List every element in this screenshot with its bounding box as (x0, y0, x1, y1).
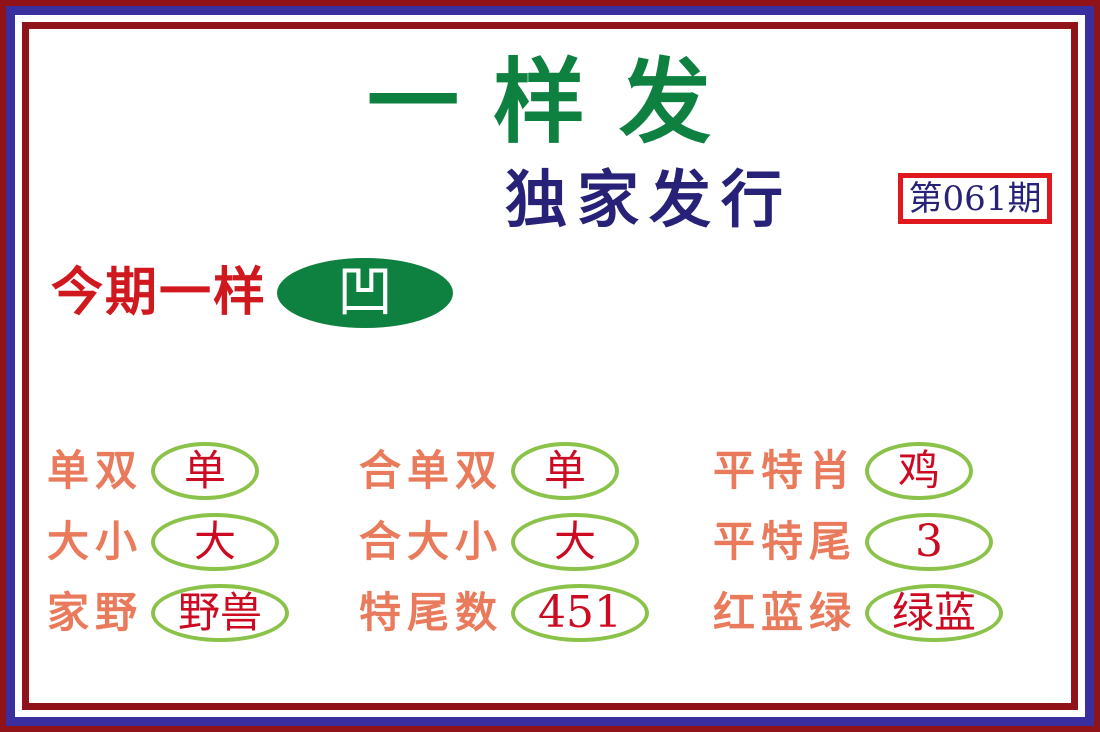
cell-oval-badge: 鸡 (865, 442, 973, 500)
cell-value: 单 (184, 450, 226, 492)
table-row: 单双 单 合单双 单 平特肖 鸡 (29, 441, 1071, 501)
cell-oval-badge: 大 (151, 513, 279, 571)
result-cell: 合大小 大 (351, 512, 707, 572)
result-cell: 红蓝绿 绿蓝 (707, 583, 1067, 643)
result-cell: 平特肖 鸡 (707, 441, 1067, 501)
cell-oval-badge: 单 (511, 442, 619, 500)
feature-value: 凹 (337, 265, 393, 321)
cell-label: 家野 (47, 592, 143, 634)
cell-value: 绿蓝 (892, 592, 976, 634)
lottery-poster: 一样发 独家发行 第061期 今期一样 凹 单双 单 合单双 (0, 0, 1100, 732)
issue-badge: 第061期 (898, 173, 1052, 224)
cell-oval-badge: 451 (511, 584, 649, 642)
cell-label: 合大小 (359, 521, 503, 563)
cell-label: 平特尾 (713, 521, 857, 563)
poster-canvas: 一样发 独家发行 第061期 今期一样 凹 单双 单 合单双 (29, 29, 1071, 703)
feature-row: 今期一样 凹 (51, 257, 453, 329)
cell-value: 451 (538, 591, 622, 635)
feature-oval-badge: 凹 (277, 258, 453, 328)
cell-value: 大 (194, 521, 236, 563)
page-title: 一样发 (239, 57, 839, 149)
cell-oval-badge: 绿蓝 (865, 584, 1003, 642)
table-row: 家野 野兽 特尾数 451 红蓝绿 绿蓝 (29, 583, 1071, 643)
cell-oval-badge: 大 (511, 513, 639, 571)
results-grid: 单双 单 合单双 单 平特肖 鸡 (29, 441, 1071, 643)
cell-value: 单 (544, 450, 586, 492)
cell-value: 鸡 (898, 450, 940, 492)
cell-value: 野兽 (178, 592, 262, 634)
cell-label: 红蓝绿 (713, 592, 857, 634)
cell-value: 3 (915, 520, 943, 564)
cell-oval-badge: 3 (865, 513, 993, 571)
result-cell: 家野 野兽 (29, 583, 351, 643)
issue-number-text: 第061期 (909, 182, 1042, 216)
cell-label: 平特肖 (713, 450, 857, 492)
result-cell: 合单双 单 (351, 441, 707, 501)
cell-oval-badge: 野兽 (151, 584, 289, 642)
cell-value: 大 (554, 521, 596, 563)
feature-label: 今期一样 (51, 267, 267, 319)
publisher-subtitle: 独家发行 (429, 169, 859, 231)
cell-label: 特尾数 (359, 592, 503, 634)
cell-oval-badge: 单 (151, 442, 259, 500)
result-cell: 大小 大 (29, 512, 351, 572)
table-row: 大小 大 合大小 大 平特尾 3 (29, 512, 1071, 572)
result-cell: 特尾数 451 (351, 583, 707, 643)
cell-label: 单双 (47, 450, 143, 492)
result-cell: 单双 单 (29, 441, 351, 501)
result-cell: 平特尾 3 (707, 512, 1067, 572)
cell-label: 合单双 (359, 450, 503, 492)
cell-label: 大小 (47, 521, 143, 563)
